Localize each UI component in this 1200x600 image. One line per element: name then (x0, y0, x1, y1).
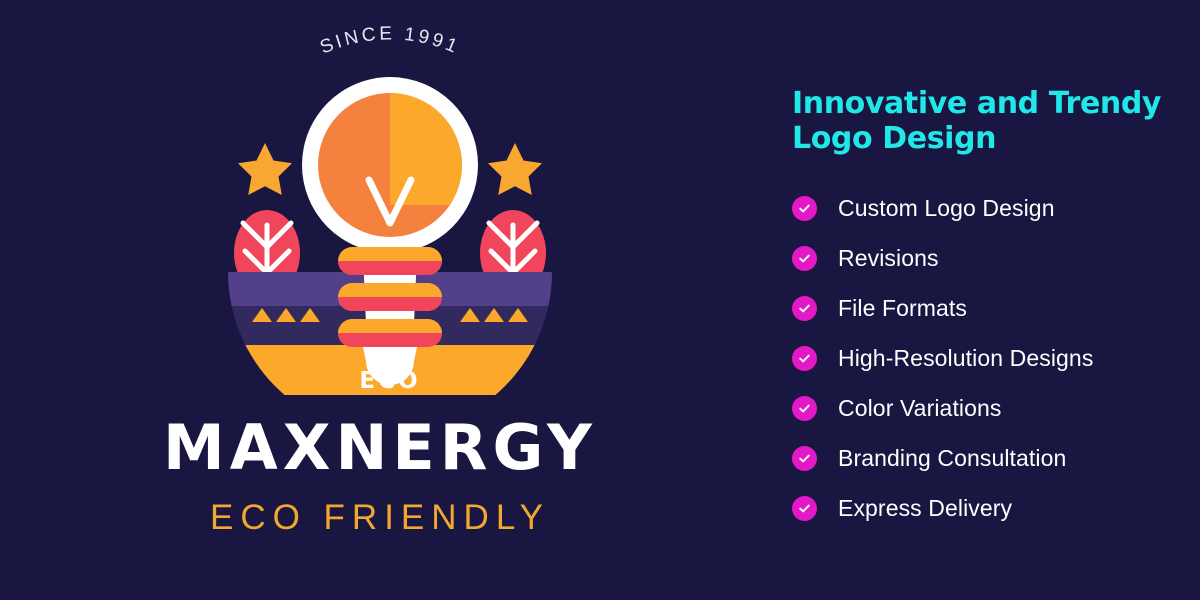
list-item[interactable]: File Formats (792, 283, 1192, 333)
feature-list: Custom Logo Design Revisions File Format… (792, 183, 1192, 533)
list-item[interactable]: Express Delivery (792, 483, 1192, 533)
eco-badge-text: ECO (359, 368, 420, 394)
feature-label: Custom Logo Design (838, 195, 1055, 222)
svg-text:SINCE 1991: SINCE 1991 (317, 25, 463, 59)
list-item[interactable]: Revisions (792, 233, 1192, 283)
list-item[interactable]: Custom Logo Design (792, 183, 1192, 233)
brand-name: MAXNERGY (0, 415, 760, 480)
list-item[interactable]: Branding Consultation (792, 433, 1192, 483)
feature-label: Branding Consultation (838, 445, 1066, 472)
feature-label: Revisions (838, 245, 939, 272)
eco-bulb-logo-mark: SINCE 1991 (180, 25, 600, 395)
star-icon-right (488, 143, 542, 195)
promo-banner: SINCE 1991 (0, 0, 1200, 600)
mountain-triangles-left (252, 308, 320, 322)
feature-label: High-Resolution Designs (838, 345, 1093, 372)
since-arc-text: SINCE 1991 (292, 25, 488, 73)
feature-label: Express Delivery (838, 495, 1012, 522)
check-circle-icon (792, 246, 817, 271)
feature-label: File Formats (838, 295, 967, 322)
feature-panel: Innovative and Trendy Logo Design Custom… (792, 0, 1192, 600)
list-item[interactable]: High-Resolution Designs (792, 333, 1192, 383)
check-circle-icon (792, 346, 817, 371)
star-icon-left (238, 143, 292, 195)
check-circle-icon (792, 296, 817, 321)
logo-panel: SINCE 1991 (0, 0, 760, 600)
brand-tagline: ECO FRIENDLY (0, 498, 760, 538)
bulb-screw-rings (338, 247, 442, 347)
mountain-triangles-right (460, 308, 528, 322)
list-item[interactable]: Color Variations (792, 383, 1192, 433)
feature-label: Color Variations (838, 395, 1002, 422)
check-circle-icon (792, 496, 817, 521)
check-circle-icon (792, 446, 817, 471)
check-circle-icon (792, 196, 817, 221)
wordmark: MAXNERGY ECO FRIENDLY (0, 415, 760, 538)
feature-panel-heading: Innovative and Trendy Logo Design (792, 86, 1172, 156)
check-circle-icon (792, 396, 817, 421)
